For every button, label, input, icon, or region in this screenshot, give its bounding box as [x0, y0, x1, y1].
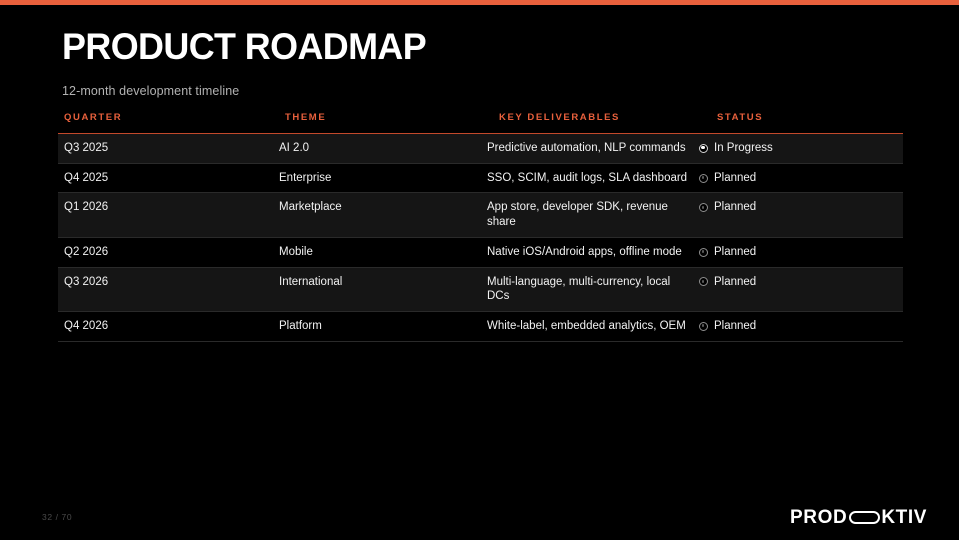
slide-root: PRODUCT ROADMAP 12-month development tim…	[0, 0, 959, 540]
cell-theme: Mobile	[273, 238, 481, 267]
cell-quarter: Q3 2025	[58, 134, 273, 163]
table-row[interactable]: Q2 2026 Mobile Native iOS/Android apps, …	[58, 238, 903, 268]
column-header-theme: THEME	[279, 112, 493, 123]
status-badge: Planned	[714, 275, 756, 290]
cell-quarter: Q4 2026	[58, 312, 273, 341]
cell-quarter: Q1 2026	[58, 193, 273, 222]
column-header-quarter: QUARTER	[58, 112, 279, 123]
cell-status: In Progress	[693, 134, 903, 163]
radio-empty-icon	[699, 277, 708, 286]
cell-theme: Marketplace	[273, 193, 481, 222]
page-indicator: 32 / 70	[42, 512, 72, 522]
radio-empty-icon	[699, 174, 708, 183]
table-row[interactable]: Q4 2026 Platform White-label, embedded a…	[58, 312, 903, 342]
cell-status: Planned	[693, 193, 903, 222]
column-header-status: STATUS	[711, 112, 927, 123]
brand-logo-prefix: PROD	[790, 508, 847, 527]
cell-status: Planned	[693, 268, 903, 297]
cell-status: Planned	[693, 238, 903, 267]
radio-empty-icon	[699, 248, 708, 257]
cell-theme: International	[273, 268, 481, 297]
status-badge: Planned	[714, 200, 756, 215]
page-title: PRODUCT ROADMAP	[62, 28, 882, 67]
cell-theme: Platform	[273, 312, 481, 341]
column-header-key-deliverables: KEY DELIVERABLES	[493, 112, 711, 123]
roadmap-table: QUARTER THEME KEY DELIVERABLES STATUS Q3…	[58, 112, 903, 342]
status-badge: In Progress	[714, 141, 773, 156]
cell-deliverables: Multi-language, multi-currency, local DC…	[481, 268, 693, 311]
cell-theme: AI 2.0	[273, 134, 481, 163]
cell-deliverables: Native iOS/Android apps, offline mode	[481, 238, 693, 267]
cell-status: Planned	[693, 164, 903, 193]
table-row[interactable]: Q1 2026 Marketplace App store, developer…	[58, 193, 903, 237]
brand-logo-suffix: KTIV	[881, 508, 927, 527]
slide-header: PRODUCT ROADMAP 12-month development tim…	[62, 28, 907, 98]
top-accent-bar	[0, 0, 959, 5]
radio-empty-icon	[699, 322, 708, 331]
table-row[interactable]: Q4 2025 Enterprise SSO, SCIM, audit logs…	[58, 164, 903, 194]
cell-deliverables: Predictive automation, NLP commands	[481, 134, 693, 163]
status-badge: Planned	[714, 245, 756, 260]
cell-theme: Enterprise	[273, 164, 481, 193]
page-subtitle: 12-month development timeline	[62, 67, 907, 98]
table-header-row: QUARTER THEME KEY DELIVERABLES STATUS	[58, 112, 903, 134]
cell-quarter: Q2 2026	[58, 238, 273, 267]
table-row[interactable]: Q3 2025 AI 2.0 Predictive automation, NL…	[58, 134, 903, 164]
cell-deliverables: White-label, embedded analytics, OEM	[481, 312, 693, 341]
capsule-icon	[849, 511, 880, 524]
table-body: Q3 2025 AI 2.0 Predictive automation, NL…	[58, 134, 903, 342]
status-badge: Planned	[714, 171, 756, 186]
radio-filled-icon	[699, 144, 708, 153]
table-row[interactable]: Q3 2026 International Multi-language, mu…	[58, 268, 903, 312]
cell-deliverables: App store, developer SDK, revenue share	[481, 193, 693, 236]
cell-quarter: Q4 2025	[58, 164, 273, 193]
status-badge: Planned	[714, 319, 756, 334]
cell-status: Planned	[693, 312, 903, 341]
cell-deliverables: SSO, SCIM, audit logs, SLA dashboard	[481, 164, 693, 193]
cell-quarter: Q3 2026	[58, 268, 273, 297]
brand-logo: PROD KTIV	[790, 506, 927, 528]
radio-empty-icon	[699, 203, 708, 212]
